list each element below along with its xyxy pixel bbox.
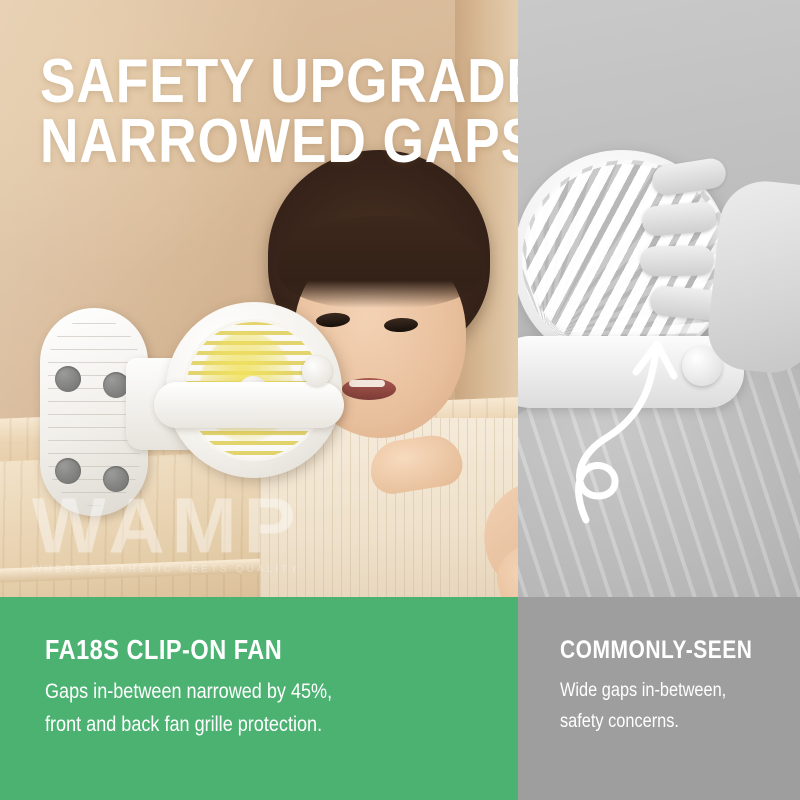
headline-line-1: SAFETY UPGRADE, xyxy=(40,52,518,112)
fan-support-band xyxy=(154,382,344,428)
comparison-issue-line-1: Wide gaps in-between, xyxy=(560,676,766,705)
comparison-issue-line-2: safety concerns. xyxy=(560,707,766,736)
caption-content-left: FA18S CLIP-ON FAN Gaps in-between narrow… xyxy=(0,635,518,740)
clip-on-fan-product xyxy=(34,298,334,533)
clamp-rubber-pad xyxy=(55,366,81,392)
caption-band-upgraded: FA18S CLIP-ON FAN Gaps in-between narrow… xyxy=(0,597,518,800)
caption-band-common: COMMONLY-SEEN Wide gaps in-between, safe… xyxy=(518,597,800,800)
product-comparison-banner: WAMP WHERE AESTHETIC MEETS QUALITY SAFET… xyxy=(0,0,800,800)
product-benefit-line-2: front and back fan grille protection. xyxy=(45,709,452,740)
curved-up-arrow-icon xyxy=(540,320,730,550)
toddler-bangs xyxy=(278,216,483,308)
caption-content-right: COMMONLY-SEEN Wide gaps in-between, safe… xyxy=(518,635,800,736)
product-name-label: FA18S CLIP-ON FAN xyxy=(45,635,442,665)
headline-line-2: NARROWED GAPS. xyxy=(40,112,518,172)
page-title: SAFETY UPGRADE, NARROWED GAPS. xyxy=(40,52,518,172)
finger xyxy=(641,201,717,237)
toddler-mouth xyxy=(342,378,396,400)
product-benefit-line-1: Gaps in-between narrowed by 45%, xyxy=(45,676,452,707)
panel-upgraded-product: WAMP WHERE AESTHETIC MEETS QUALITY SAFET… xyxy=(0,0,518,800)
finger xyxy=(640,245,715,276)
clamp-rubber-pad xyxy=(55,458,81,484)
comparison-label: COMMONLY-SEEN xyxy=(560,635,762,665)
fan-pivot-knob xyxy=(302,356,332,386)
clamp-rubber-pad xyxy=(103,466,129,492)
